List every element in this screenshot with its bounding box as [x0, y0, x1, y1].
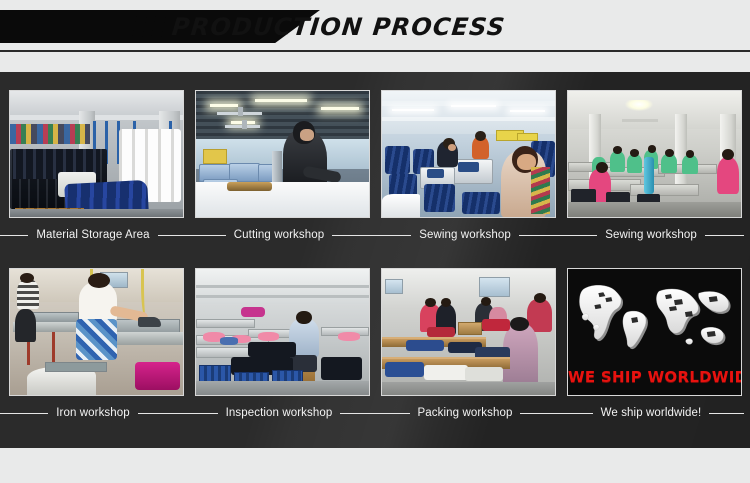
gallery-tile[interactable] [381, 90, 556, 218]
gallery-tile[interactable]: WE SHIP WORLDWIDE! [567, 268, 742, 396]
caption-rule-left [0, 235, 28, 236]
gallery-tile[interactable] [195, 268, 370, 396]
caption-cell: We ship worldwide! [558, 400, 744, 426]
sewing-hall-photo [568, 91, 741, 217]
caption-label: Iron workshop [48, 407, 138, 419]
caption-rule-right [340, 413, 372, 414]
caption-cell: Iron workshop [0, 400, 186, 426]
caption-label: Inspection workshop [218, 407, 341, 419]
header-divider [0, 50, 750, 52]
caption-rule-left [372, 413, 410, 414]
caption-label: Packing workshop [410, 407, 521, 419]
production-process-page: PRODUCTION PROCESS [0, 0, 750, 483]
ship-worldwide-headline: WE SHIP WORLDWIDE! [568, 368, 741, 386]
caption-rule-left [186, 235, 226, 236]
cutting-table-photo [196, 91, 369, 217]
caption-cell: Packing workshop [372, 400, 558, 426]
caption-label: We ship worldwide! [593, 407, 710, 419]
process-gallery-panel: Material Storage Area Cutting workshop S… [0, 72, 750, 448]
gallery-tile[interactable] [381, 268, 556, 396]
caption-label: Sewing workshop [411, 229, 519, 241]
caption-cell: Inspection workshop [186, 400, 372, 426]
caption-rule-right [519, 235, 558, 236]
sewing-line-photo [382, 91, 555, 217]
gallery-tile[interactable] [9, 268, 184, 396]
caption-rule-left [558, 235, 597, 236]
caption-rule-right [709, 413, 744, 414]
caption-cell: Sewing workshop [372, 222, 558, 248]
gallery-tile[interactable] [195, 90, 370, 218]
caption-label: Material Storage Area [28, 229, 157, 241]
page-title: PRODUCTION PROCESS [170, 11, 507, 43]
caption-rule-right [520, 413, 558, 414]
world-map-photo: WE SHIP WORLDWIDE! [568, 269, 741, 395]
caption-rule-right [158, 235, 186, 236]
caption-rule-right [705, 235, 744, 236]
caption-label: Cutting workshop [226, 229, 332, 241]
ironing-station-photo [10, 269, 183, 395]
gallery-tile[interactable] [567, 90, 742, 218]
gallery-tile[interactable] [9, 90, 184, 218]
caption-cell: Cutting workshop [186, 222, 372, 248]
caption-cell: Sewing workshop [558, 222, 744, 248]
caption-rule-right [138, 413, 186, 414]
packing-table-photo [382, 269, 555, 395]
world-map-icon [575, 279, 734, 357]
caption-rule-left [372, 235, 411, 236]
caption-rule-left [0, 413, 48, 414]
caption-cell: Material Storage Area [0, 222, 186, 248]
caption-row: Iron workshop Inspection workshop Packin… [0, 400, 750, 426]
caption-rule-left [558, 413, 593, 414]
inspection-bench-photo [196, 269, 369, 395]
caption-rule-left [186, 413, 218, 414]
caption-rule-right [332, 235, 372, 236]
caption-row: Material Storage Area Cutting workshop S… [0, 222, 750, 248]
fabric-warehouse-photo [10, 91, 183, 217]
page-header: PRODUCTION PROCESS [0, 0, 750, 52]
caption-label: Sewing workshop [597, 229, 705, 241]
